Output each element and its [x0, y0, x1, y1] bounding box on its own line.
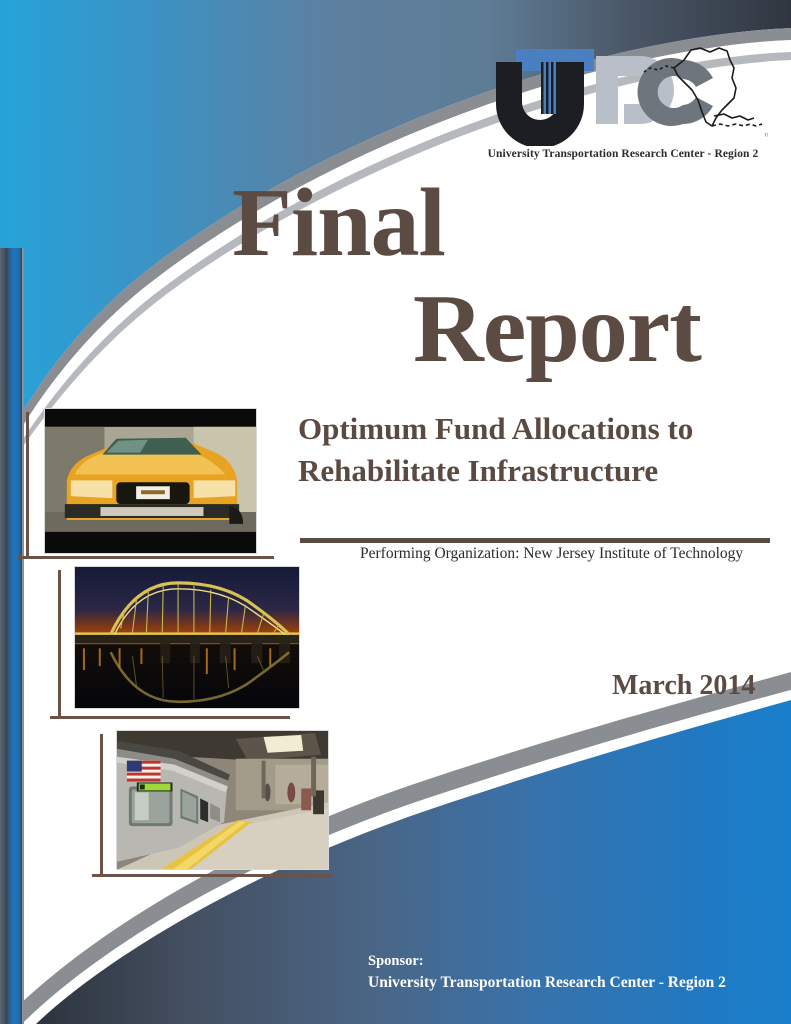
- bracket-taxi-horizontal: [18, 556, 274, 559]
- report-subtitle: Optimum Fund Allocations to Rehabilitate…: [298, 408, 776, 493]
- page-title-line1: Final: [232, 174, 445, 272]
- subtitle-divider: [300, 538, 770, 543]
- photo-bridge-art: [75, 567, 299, 709]
- bracket-subway-horizontal: [92, 874, 332, 877]
- logo-letter-u: [496, 62, 584, 146]
- photo-bridge: [74, 566, 300, 709]
- logo-trademark: ™: [764, 132, 768, 140]
- sponsor-name: University Transportation Research Cente…: [368, 972, 726, 994]
- bracket-subway-vertical: [100, 734, 103, 876]
- page-title-line2: Report: [413, 280, 701, 378]
- bracket-bridge-vertical: [58, 570, 61, 718]
- utrc-logo: ™ University Transportation Research Cen…: [478, 38, 768, 160]
- photo-subway: [116, 730, 329, 870]
- left-blue-strip: [6, 248, 24, 1024]
- bracket-bridge-horizontal: [50, 716, 290, 719]
- bracket-taxi-vertical: [26, 412, 29, 558]
- utrc-logo-mark: ™: [478, 38, 768, 146]
- report-cover-page: ™ University Transportation Research Cen…: [0, 0, 791, 1024]
- american-flag-icon: [127, 761, 161, 782]
- utrc-logo-svg: ™: [478, 38, 768, 146]
- photo-taxi: [44, 408, 257, 554]
- sponsor-label: Sponsor:: [368, 951, 726, 972]
- photo-subway-art: [117, 731, 328, 870]
- sponsor-block: Sponsor: University Transportation Resea…: [368, 951, 726, 994]
- report-date: March 2014: [612, 670, 755, 702]
- performing-organization: Performing Organization: New Jersey Inst…: [360, 545, 743, 563]
- photo-taxi-art: [45, 409, 256, 554]
- utrc-logo-caption: University Transportation Research Cente…: [478, 148, 768, 160]
